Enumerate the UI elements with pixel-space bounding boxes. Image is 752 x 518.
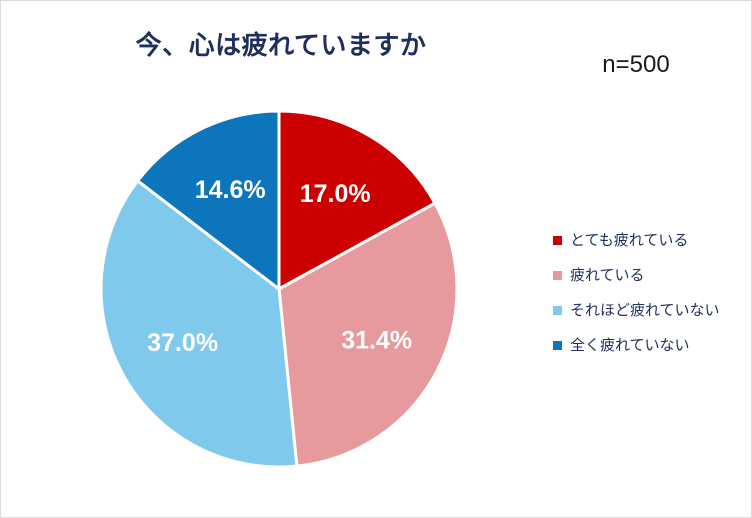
legend-swatch-icon — [553, 341, 562, 350]
legend-swatch-icon — [553, 236, 562, 245]
legend-item[interactable]: 全く疲れていない — [553, 328, 745, 363]
legend-item-label: それほど疲れていない — [570, 303, 720, 318]
legend-swatch-icon — [553, 306, 562, 315]
sample-size-annotation: n=500 — [561, 51, 711, 79]
legend-item[interactable]: とても疲れている — [553, 223, 745, 258]
legend-swatch-icon — [553, 271, 562, 280]
pie-slice-label: 17.0% — [300, 180, 371, 208]
legend: とても疲れている疲れているそれほど疲れていない全く疲れていない — [553, 223, 745, 363]
legend-item-label: 全く疲れていない — [570, 338, 690, 353]
pie-chart-svg: 17.0%31.4%37.0%14.6% — [97, 107, 461, 471]
legend-item[interactable]: 疲れている — [553, 258, 745, 293]
pie-slice-label: 37.0% — [147, 329, 218, 357]
legend-item-label: 疲れている — [570, 268, 645, 283]
pie-slices — [101, 111, 457, 467]
pie-slice-label: 31.4% — [341, 326, 412, 354]
pie-slice-label: 14.6% — [195, 176, 266, 204]
pie-chart: 17.0%31.4%37.0%14.6% — [97, 107, 461, 471]
chart-page: 今、心は疲れていますか n=500 17.0%31.4%37.0%14.6% と… — [0, 0, 752, 518]
legend-item-label: とても疲れている — [570, 233, 688, 248]
legend-item[interactable]: それほど疲れていない — [553, 293, 745, 328]
page-title: 今、心は疲れていますか — [1, 25, 561, 62]
